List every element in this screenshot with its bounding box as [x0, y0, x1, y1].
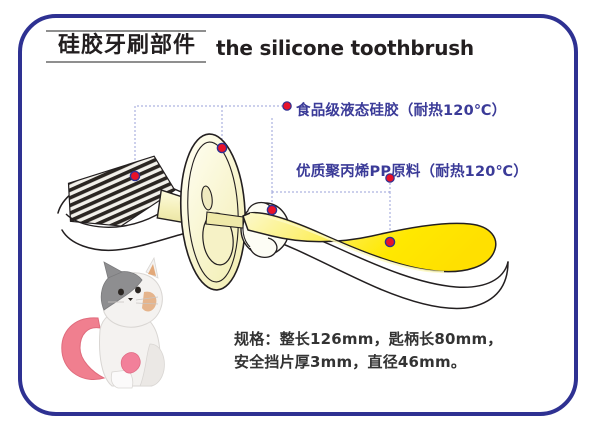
spec-line-2: 安全挡片厚3mm，直径46mm。: [234, 351, 503, 374]
page-title-en: the silicone toothbrush: [216, 36, 474, 63]
specification-block: 规格：整长126mm，匙柄长80mm， 安全挡片厚3mm，直径46mm。: [234, 328, 503, 375]
poster-canvas: 硅胶牙刷部件 the silicone toothbrush: [0, 0, 600, 433]
spec-line-1: 规格：整长126mm，匙柄长80mm，: [234, 328, 503, 351]
title-cn-rule-box: 硅胶牙刷部件: [46, 30, 206, 63]
annotation-label-pp: 优质聚丙烯PP原料（耐热120℃）: [296, 160, 528, 181]
header: 硅胶牙刷部件 the silicone toothbrush: [46, 30, 474, 63]
annotation-label-silicone: 食品级液态硅胶（耐热120℃）: [296, 99, 506, 120]
page-title-cn: 硅胶牙刷部件: [58, 34, 196, 59]
